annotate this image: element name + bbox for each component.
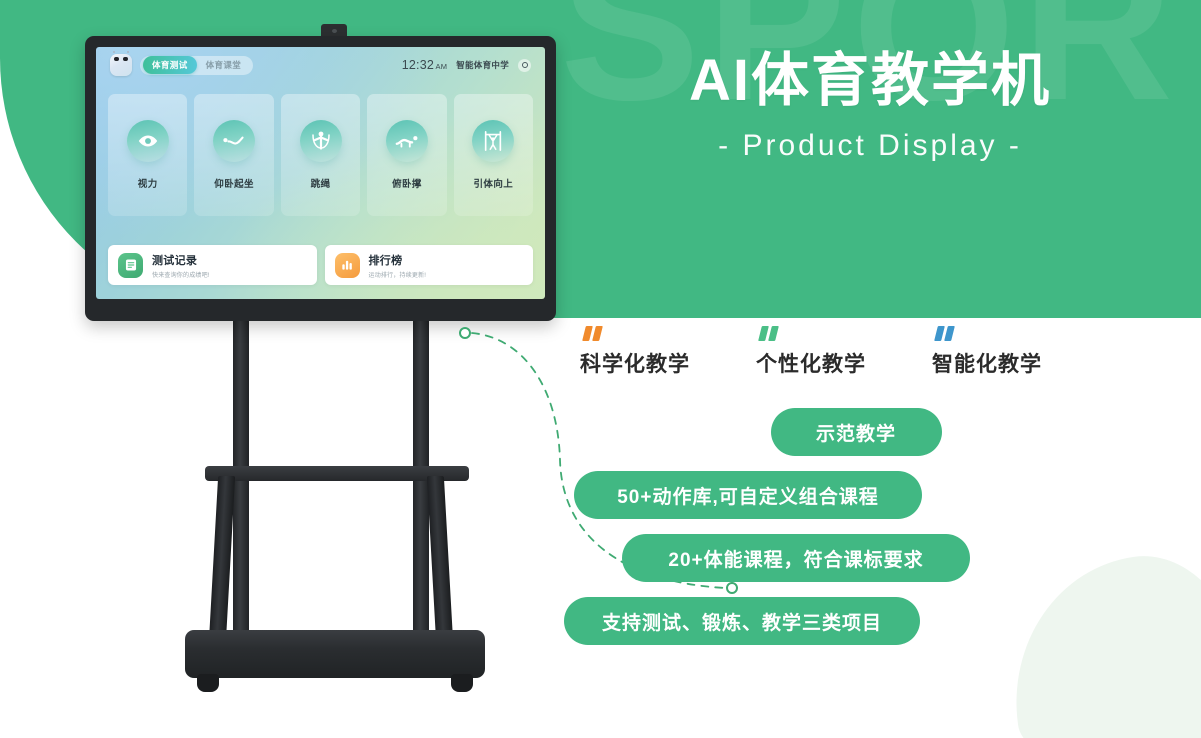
page-subtitle: - Product Display - <box>635 129 1105 163</box>
quote-mark-icon <box>760 326 932 341</box>
device-bezel: 体育测试 体育课堂 12:32AM 智能体育中学 <box>85 36 556 321</box>
shortcut-title: 排行榜 <box>369 252 427 268</box>
stand-caster-left <box>197 674 219 692</box>
exercise-label: 视力 <box>138 176 158 190</box>
pill-demo-teaching[interactable]: 示范教学 <box>771 408 942 456</box>
stand-caster-right <box>451 674 473 692</box>
page-title: AI体育教学机 <box>635 50 1105 113</box>
feature-personalized: 个性化教学 <box>756 326 932 378</box>
tab-sports-test[interactable]: 体育测试 <box>143 56 197 74</box>
jump-rope-icon <box>300 120 342 162</box>
feature-pill-list: 示范教学 50+动作库,可自定义组合课程 20+体能课程，符合课标要求 支持测试… <box>556 408 1156 660</box>
clock: 12:32AM <box>402 58 447 72</box>
poster-canvas: SPORTS AI体育教学机 - Product Display - 体育测试 … <box>0 0 1201 738</box>
header-text-block: AI体育教学机 - Product Display - <box>635 50 1105 163</box>
quote-mark-icon <box>936 326 1108 341</box>
exercise-card-jumprope[interactable]: 跳绳 <box>281 94 360 216</box>
stand-base-plate <box>185 630 485 678</box>
shortcut-subtitle: 运动排行，持续更新! <box>369 270 427 279</box>
situp-icon <box>213 120 255 162</box>
device-screen: 体育测试 体育课堂 12:32AM 智能体育中学 <box>96 47 545 299</box>
feature-title: 个性化教学 <box>756 348 932 378</box>
exercise-card-grid: 视力 仰卧起坐 <box>108 94 533 216</box>
gear-icon[interactable] <box>518 59 531 72</box>
pill-three-categories[interactable]: 支持测试、锻炼、教学三类项目 <box>564 597 920 645</box>
eye-icon <box>127 120 169 162</box>
shortcut-card-row: 测试记录 快来查询你的成绩吧! <box>108 245 533 285</box>
screen-topbar: 体育测试 体育课堂 12:32AM 智能体育中学 <box>96 47 545 83</box>
robot-mascot-icon <box>110 54 132 76</box>
shortcut-card-leaderboard[interactable]: 排行榜 运动排行，持续更新! <box>325 245 534 285</box>
exercise-card-vision[interactable]: 视力 <box>108 94 187 216</box>
bar-chart-icon <box>335 253 360 278</box>
exercise-label: 俯卧撑 <box>392 176 422 190</box>
pill-fitness-courses[interactable]: 20+体能课程，符合课标要求 <box>622 534 970 582</box>
clock-time: 12:32 <box>402 58 434 72</box>
feature-title: 科学化教学 <box>580 348 756 378</box>
clock-meridiem: AM <box>436 62 448 71</box>
feature-scientific: 科学化教学 <box>580 326 756 378</box>
stand-post-left <box>233 304 249 660</box>
exercise-card-situp[interactable]: 仰卧起坐 <box>194 94 273 216</box>
shortcut-card-test-record[interactable]: 测试记录 快来查询你的成绩吧! <box>108 245 317 285</box>
feature-intelligent: 智能化教学 <box>932 326 1108 378</box>
pill-action-library[interactable]: 50+动作库,可自定义组合课程 <box>574 471 922 519</box>
record-document-icon <box>118 253 143 278</box>
feature-title: 智能化教学 <box>932 348 1108 378</box>
feature-heading-row: 科学化教学 个性化教学 智能化教学 <box>580 326 1110 378</box>
exercise-label: 引体向上 <box>474 176 514 190</box>
quote-mark-icon <box>584 326 756 341</box>
exercise-label: 仰卧起坐 <box>214 176 254 190</box>
school-name-label: 智能体育中学 <box>456 59 509 71</box>
pullup-icon <box>472 120 514 162</box>
pushup-icon <box>386 120 428 162</box>
shortcut-subtitle: 快来查询你的成绩吧! <box>152 270 210 279</box>
shortcut-title: 测试记录 <box>152 252 210 268</box>
exercise-card-pullup[interactable]: 引体向上 <box>454 94 533 216</box>
exercise-card-pushup[interactable]: 俯卧撑 <box>367 94 446 216</box>
tab-sports-class[interactable]: 体育课堂 <box>197 56 251 74</box>
screen-status-area: 12:32AM 智能体育中学 <box>402 58 531 72</box>
screen-tab-group[interactable]: 体育测试 体育课堂 <box>140 56 253 75</box>
exercise-label: 跳绳 <box>311 176 331 190</box>
